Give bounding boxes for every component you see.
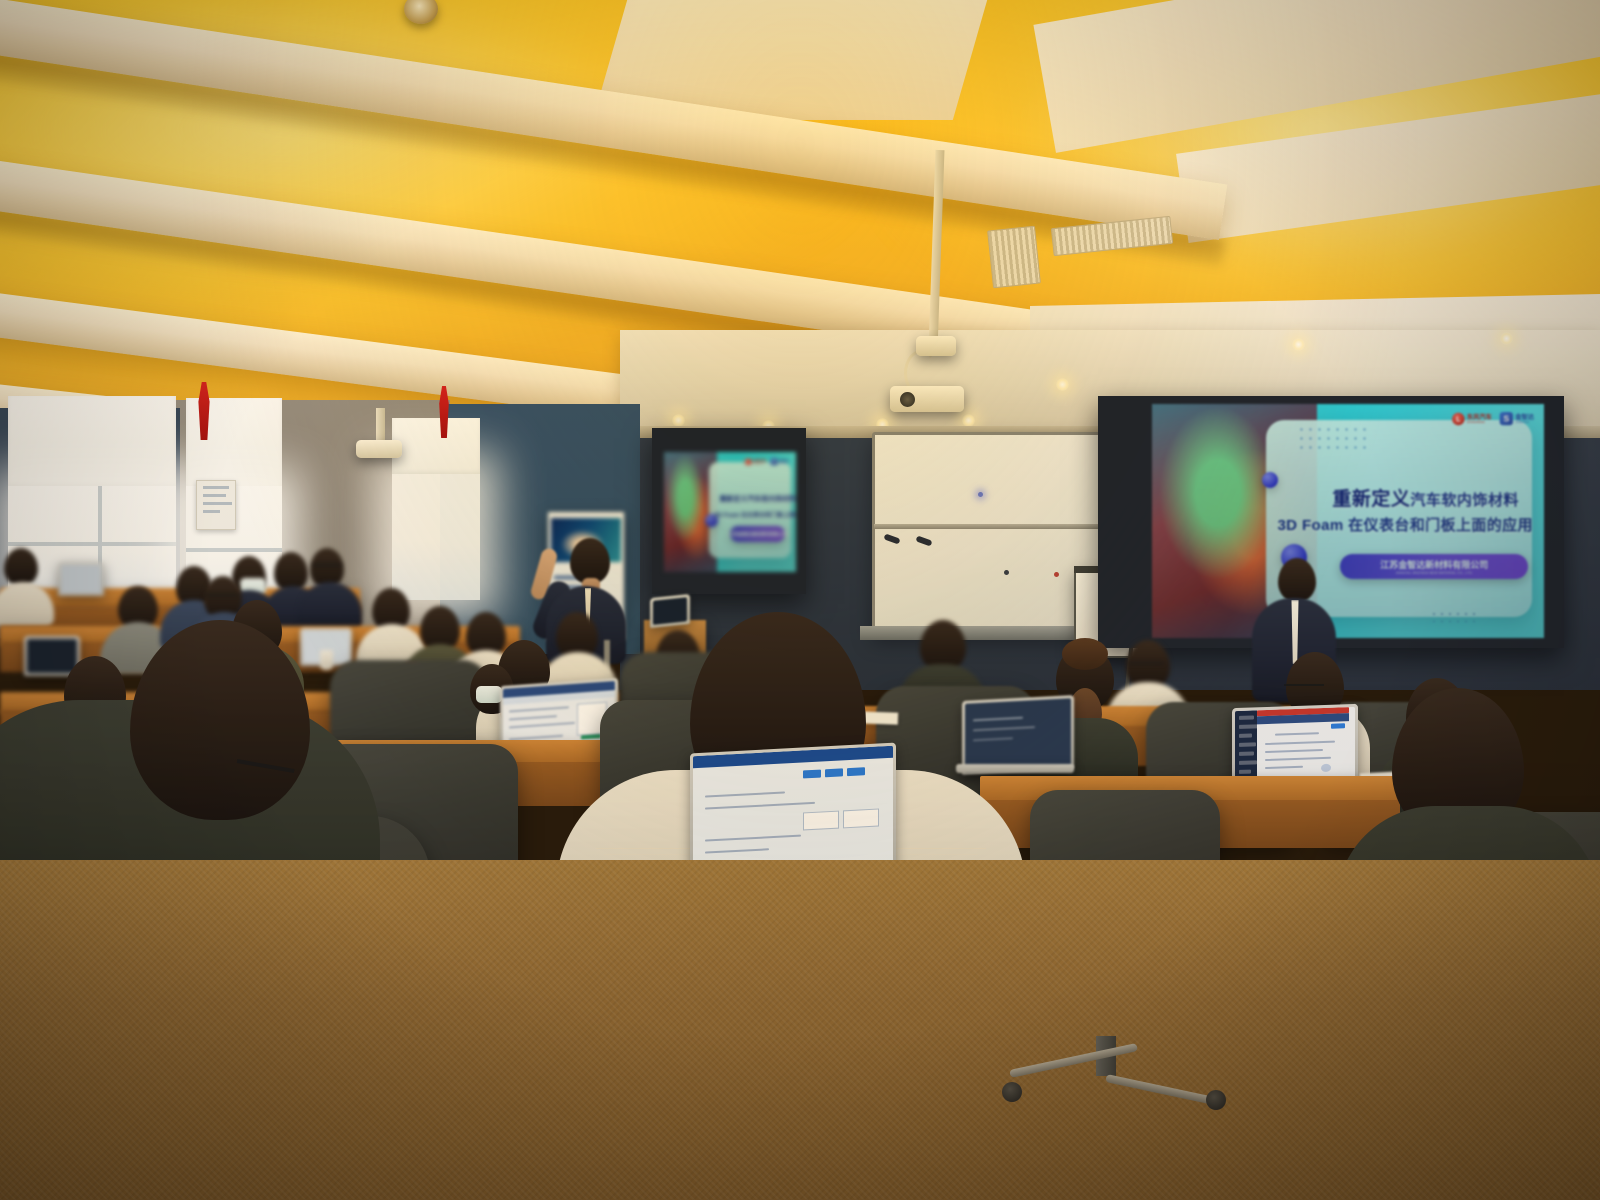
chair-r1c-caster-2 — [1206, 1090, 1226, 1110]
laptop-right-ui-line-5 — [1265, 766, 1303, 769]
downlight-3 — [1500, 332, 1513, 345]
blue-s-logo-icon: S — [771, 458, 778, 465]
laptop-front-ui-line-2 — [705, 802, 815, 810]
laser-pointer-dot — [978, 492, 983, 497]
projector-bracket — [916, 336, 956, 356]
secondary-slide-title-2: 3D Foam 在仪表台和门板上面的应用 — [714, 510, 796, 519]
main-projection-screen[interactable]: 重新定义汽车软内饰材料 3D Foam 在仪表台和门板上面的应用 江苏金智达新材… — [1152, 404, 1544, 638]
slide-company-name-sub: JIANGSU JINZHIDA NEW MATERIAL CO., LTD. — [1396, 571, 1473, 575]
secondary-slide: 重新定义汽车软内饰材料 3D Foam 在仪表台和门板上面的应用 江苏金智达新材… — [664, 452, 796, 572]
wall-notice — [196, 480, 236, 530]
whiteboard-magnet-2 — [1054, 572, 1059, 577]
whiteboard-rail — [874, 524, 1098, 529]
glasses-f4 — [312, 564, 342, 573]
laptop-right-ui-line-2 — [1265, 741, 1335, 745]
slide-title-line2: 3D Foam 在仪表台和门板上面的应用 — [1277, 514, 1533, 535]
laptop-right-ui-button[interactable] — [1331, 723, 1345, 728]
secondary-slide-title-1: 重新定义汽车软内饰材料 — [719, 494, 796, 504]
laptop-front-ui-btn-3[interactable] — [847, 767, 865, 776]
laptop-left-ui-line-2 — [509, 715, 557, 720]
laptop-far-left[interactable] — [58, 562, 104, 596]
cup-white — [320, 650, 333, 670]
laptop-r2-right-ui-1 — [973, 717, 1023, 722]
glasses-r3c — [206, 594, 238, 603]
laptop-r2-right[interactable] — [962, 695, 1074, 775]
red-circular-logo-icon-main: L — [1452, 413, 1464, 425]
laptop-front-ui-btn-2[interactable] — [825, 768, 843, 777]
audience-head-f1 — [4, 548, 38, 586]
logo-blue-line2: JINZHIDA — [1515, 420, 1534, 423]
laptop-far-left-screen — [61, 565, 101, 593]
laptop-left-ui-accent — [581, 734, 601, 739]
slide-ball-small — [1262, 472, 1278, 488]
logo-dongfeng: L 东风汽车 DONGFENG — [1452, 413, 1492, 425]
laptop-r2-right-base — [956, 764, 1074, 773]
laptop-front-ui-line-3 — [705, 835, 801, 842]
main-slide: 重新定义汽车软内饰材料 3D Foam 在仪表台和门板上面的应用 江苏金智达新材… — [1152, 404, 1544, 638]
slide-company-badge: 江苏金智达新材料有限公司 JIANGSU JINZHIDA NEW MATERI… — [1340, 554, 1528, 580]
air-vent — [987, 226, 1041, 289]
red-circular-logo-icon: L — [745, 458, 752, 465]
secondary-slide-logos: L 东风汽车DONGFENG S 金智达JINZHIDA — [745, 458, 789, 465]
chair-r1c-caster-1 — [1002, 1082, 1022, 1102]
laptop-right-ui-line-3 — [1265, 749, 1323, 753]
slide-company-name: 江苏金智达新材料有限公司 — [1380, 558, 1488, 571]
slide-title-emphasis: 重新定义 — [1332, 489, 1410, 510]
laptop-right-ui-avatar — [1321, 764, 1331, 772]
laptop-left-ui-line-1 — [509, 706, 569, 712]
laptop-right-ui-line-4 — [1265, 757, 1331, 761]
window-right — [392, 470, 480, 600]
downlight-1 — [1056, 378, 1069, 391]
slide-title-line1: 重新定义汽车软内饰材料 — [1332, 484, 1519, 511]
laptop-r2-right-ui-3 — [973, 737, 1013, 741]
window-blinds — [8, 396, 176, 486]
secondary-projection-screen[interactable]: 重新定义汽车软内饰材料 3D Foam 在仪表台和门板上面的应用 江苏金智达新材… — [664, 452, 796, 572]
downlight-2 — [1292, 338, 1305, 351]
whiteboard[interactable] — [872, 432, 1106, 634]
conference-room-photo: 重新定义汽车软内饰材料 3D Foam 在仪表台和门板上面的应用 江苏金智达新材… — [0, 0, 1600, 1200]
whiteboard-magnet-1 — [1004, 570, 1009, 575]
secondary-logo-red: L 东风汽车DONGFENG — [745, 458, 766, 465]
glasses-r3j — [1128, 662, 1164, 671]
laptop-left-ui-line-3 — [509, 722, 575, 729]
laptop-lectern[interactable] — [650, 594, 690, 628]
laptop-front-ui-field-1[interactable] — [803, 811, 839, 831]
laptop-front-ui-line-4 — [705, 848, 769, 853]
projector-lens — [900, 392, 915, 407]
logo-red-line2: DONGFENG — [1467, 420, 1492, 423]
secondary-logo-blue-line2: JINZHIDA — [779, 462, 789, 464]
secondary-slide-badge: 江苏金智达新材料有限公司 — [730, 526, 785, 542]
window-mullion-h-2 — [186, 548, 282, 552]
blue-s-logo-icon-main: S — [1500, 412, 1513, 425]
window-blinds-3 — [392, 418, 480, 474]
window-mullion-h — [8, 542, 176, 546]
secondary-badge-text: 江苏金智达新材料有限公司 — [728, 531, 788, 538]
laptop-right-ui-line-1 — [1275, 732, 1319, 736]
slide-footer-dots — [1430, 610, 1481, 622]
secondary-logo-red-line2: DONGFENG — [753, 462, 766, 464]
laptop-front-ui-btn-1[interactable] — [803, 770, 821, 779]
carpet-floor — [0, 860, 1600, 1200]
laptop-r3-left-screen — [27, 639, 77, 673]
glasses-r2f — [1284, 684, 1324, 693]
laptop-front-ui-line-1 — [705, 791, 785, 797]
laptop-r2-right-screen — [965, 698, 1071, 772]
carpet-texture — [0, 860, 1600, 1200]
ceiling-projector-2 — [356, 440, 402, 458]
laptop-r2-right-ui-2 — [973, 726, 1035, 731]
laptop-lectern-screen — [653, 597, 687, 625]
face-mask-r2d — [476, 686, 502, 703]
secondary-logo-blue: S 金智达JINZHIDA — [771, 458, 789, 465]
slide-logo-row: L 东风汽车 DONGFENG S 金智达 JINZHIDA — [1452, 412, 1534, 425]
hair-bun-r2e — [1062, 638, 1108, 670]
logo-jinzhida: S 金智达 JINZHIDA — [1500, 412, 1534, 425]
laptop-front-ui-field-2[interactable] — [843, 808, 879, 828]
slide-title-rest: 汽车软内饰材料 — [1410, 492, 1519, 509]
slide-dot-grid — [1297, 425, 1368, 455]
standing-attendee-head — [1278, 558, 1316, 602]
